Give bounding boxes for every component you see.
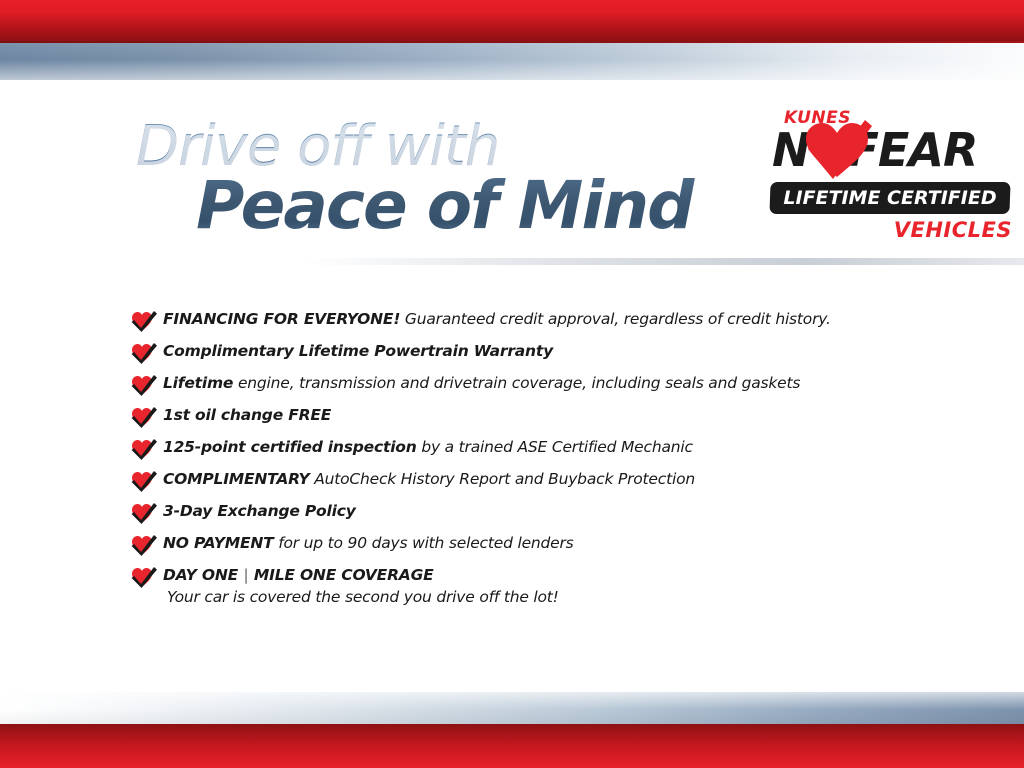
list-item-rest: AutoCheck History Report and Buyback Pro…: [309, 470, 695, 488]
list-item-strong: NO PAYMENT: [163, 534, 273, 552]
list-item: 3-Day Exchange Policy: [131, 500, 931, 532]
list-item-separator: |: [238, 566, 254, 584]
heart-check-icon: [131, 503, 157, 525]
list-item: FINANCING FOR EVERYONE! Guaranteed credi…: [131, 308, 931, 340]
list-item-text: FINANCING FOR EVERYONE! Guaranteed credi…: [163, 308, 831, 330]
list-item-strong-2: MILE ONE COVERAGE: [254, 566, 434, 584]
bottom-red-bar: [0, 724, 1024, 768]
list-item-text: Complimentary Lifetime Powertrain Warran…: [163, 340, 553, 362]
heart-check-icon: [131, 375, 157, 397]
list-item-subtext: Your car is covered the second you drive…: [167, 586, 559, 608]
headline: Drive off with Peace of Mind: [136, 118, 716, 242]
header-divider: [300, 258, 1024, 265]
list-item: 1st oil change FREE: [131, 404, 931, 436]
top-red-bar: [0, 0, 1024, 41]
list-item-rest: by a trained ASE Certified Mechanic: [417, 438, 693, 456]
list-item-strong: FINANCING FOR EVERYONE!: [163, 310, 400, 328]
heart-check-icon: [131, 311, 157, 333]
heart-check-icon: [131, 567, 157, 589]
list-item-text: 3-Day Exchange Policy: [163, 500, 356, 522]
logo-banner-text: LIFETIME CERTIFIED: [770, 182, 1010, 214]
logo-vehicles-text: VEHICLES: [894, 218, 1012, 242]
heart-check-icon: [131, 471, 157, 493]
list-item-rest: engine, transmission and drivetrain cove…: [233, 374, 800, 392]
list-item-text: 1st oil change FREE: [163, 404, 331, 426]
list-item-text: COMPLIMENTARY AutoCheck History Report a…: [163, 468, 695, 490]
list-item-text: NO PAYMENT for up to 90 days with select…: [163, 532, 574, 554]
list-item-rest: for up to 90 days with selected lenders: [273, 534, 573, 552]
list-item-strong: DAY ONE: [163, 566, 238, 584]
list-item-rest: Guaranteed credit approval, regardless o…: [400, 310, 831, 328]
list-item-strong: Lifetime: [163, 374, 233, 392]
kunes-no-fear-logo: KUNES NFEAR LIFETIME CERTIFIED VEHICLES: [770, 108, 1014, 248]
list-item-text: 125-point certified inspection by a trai…: [163, 436, 693, 458]
promo-page: Drive off with Peace of Mind KUNES NFEAR…: [0, 0, 1024, 768]
list-item-text: Lifetime engine, transmission and drivet…: [163, 372, 800, 394]
heart-check-icon: [131, 343, 157, 365]
list-item: Lifetime engine, transmission and drivet…: [131, 372, 931, 404]
list-item-strong: 3-Day Exchange Policy: [163, 502, 356, 520]
headline-line-2: Peace of Mind: [196, 170, 716, 242]
list-item: COMPLIMENTARY AutoCheck History Report a…: [131, 468, 931, 500]
list-item: DAY ONE | MILE ONE COVERAGE Your car is …: [131, 564, 931, 616]
benefits-list: FINANCING FOR EVERYONE! Guaranteed credi…: [131, 308, 931, 616]
heart-check-icon: [131, 407, 157, 429]
list-item-text: DAY ONE | MILE ONE COVERAGE: [163, 564, 434, 586]
bottom-blue-bar-sheen: [0, 692, 1024, 724]
heart-check-icon: [131, 439, 157, 461]
top-blue-bar-sheen: [0, 43, 1024, 80]
heart-check-icon: [131, 535, 157, 557]
list-item: 125-point certified inspection by a trai…: [131, 436, 931, 468]
heart-check-icon: [802, 120, 872, 182]
list-item-strong: 125-point certified inspection: [163, 438, 417, 456]
list-item-strong: COMPLIMENTARY: [163, 470, 309, 488]
list-item: Complimentary Lifetime Powertrain Warran…: [131, 340, 931, 372]
list-item: NO PAYMENT for up to 90 days with select…: [131, 532, 931, 564]
list-item-strong: Complimentary Lifetime Powertrain Warran…: [163, 342, 553, 360]
list-item-strong: 1st oil change FREE: [163, 406, 331, 424]
